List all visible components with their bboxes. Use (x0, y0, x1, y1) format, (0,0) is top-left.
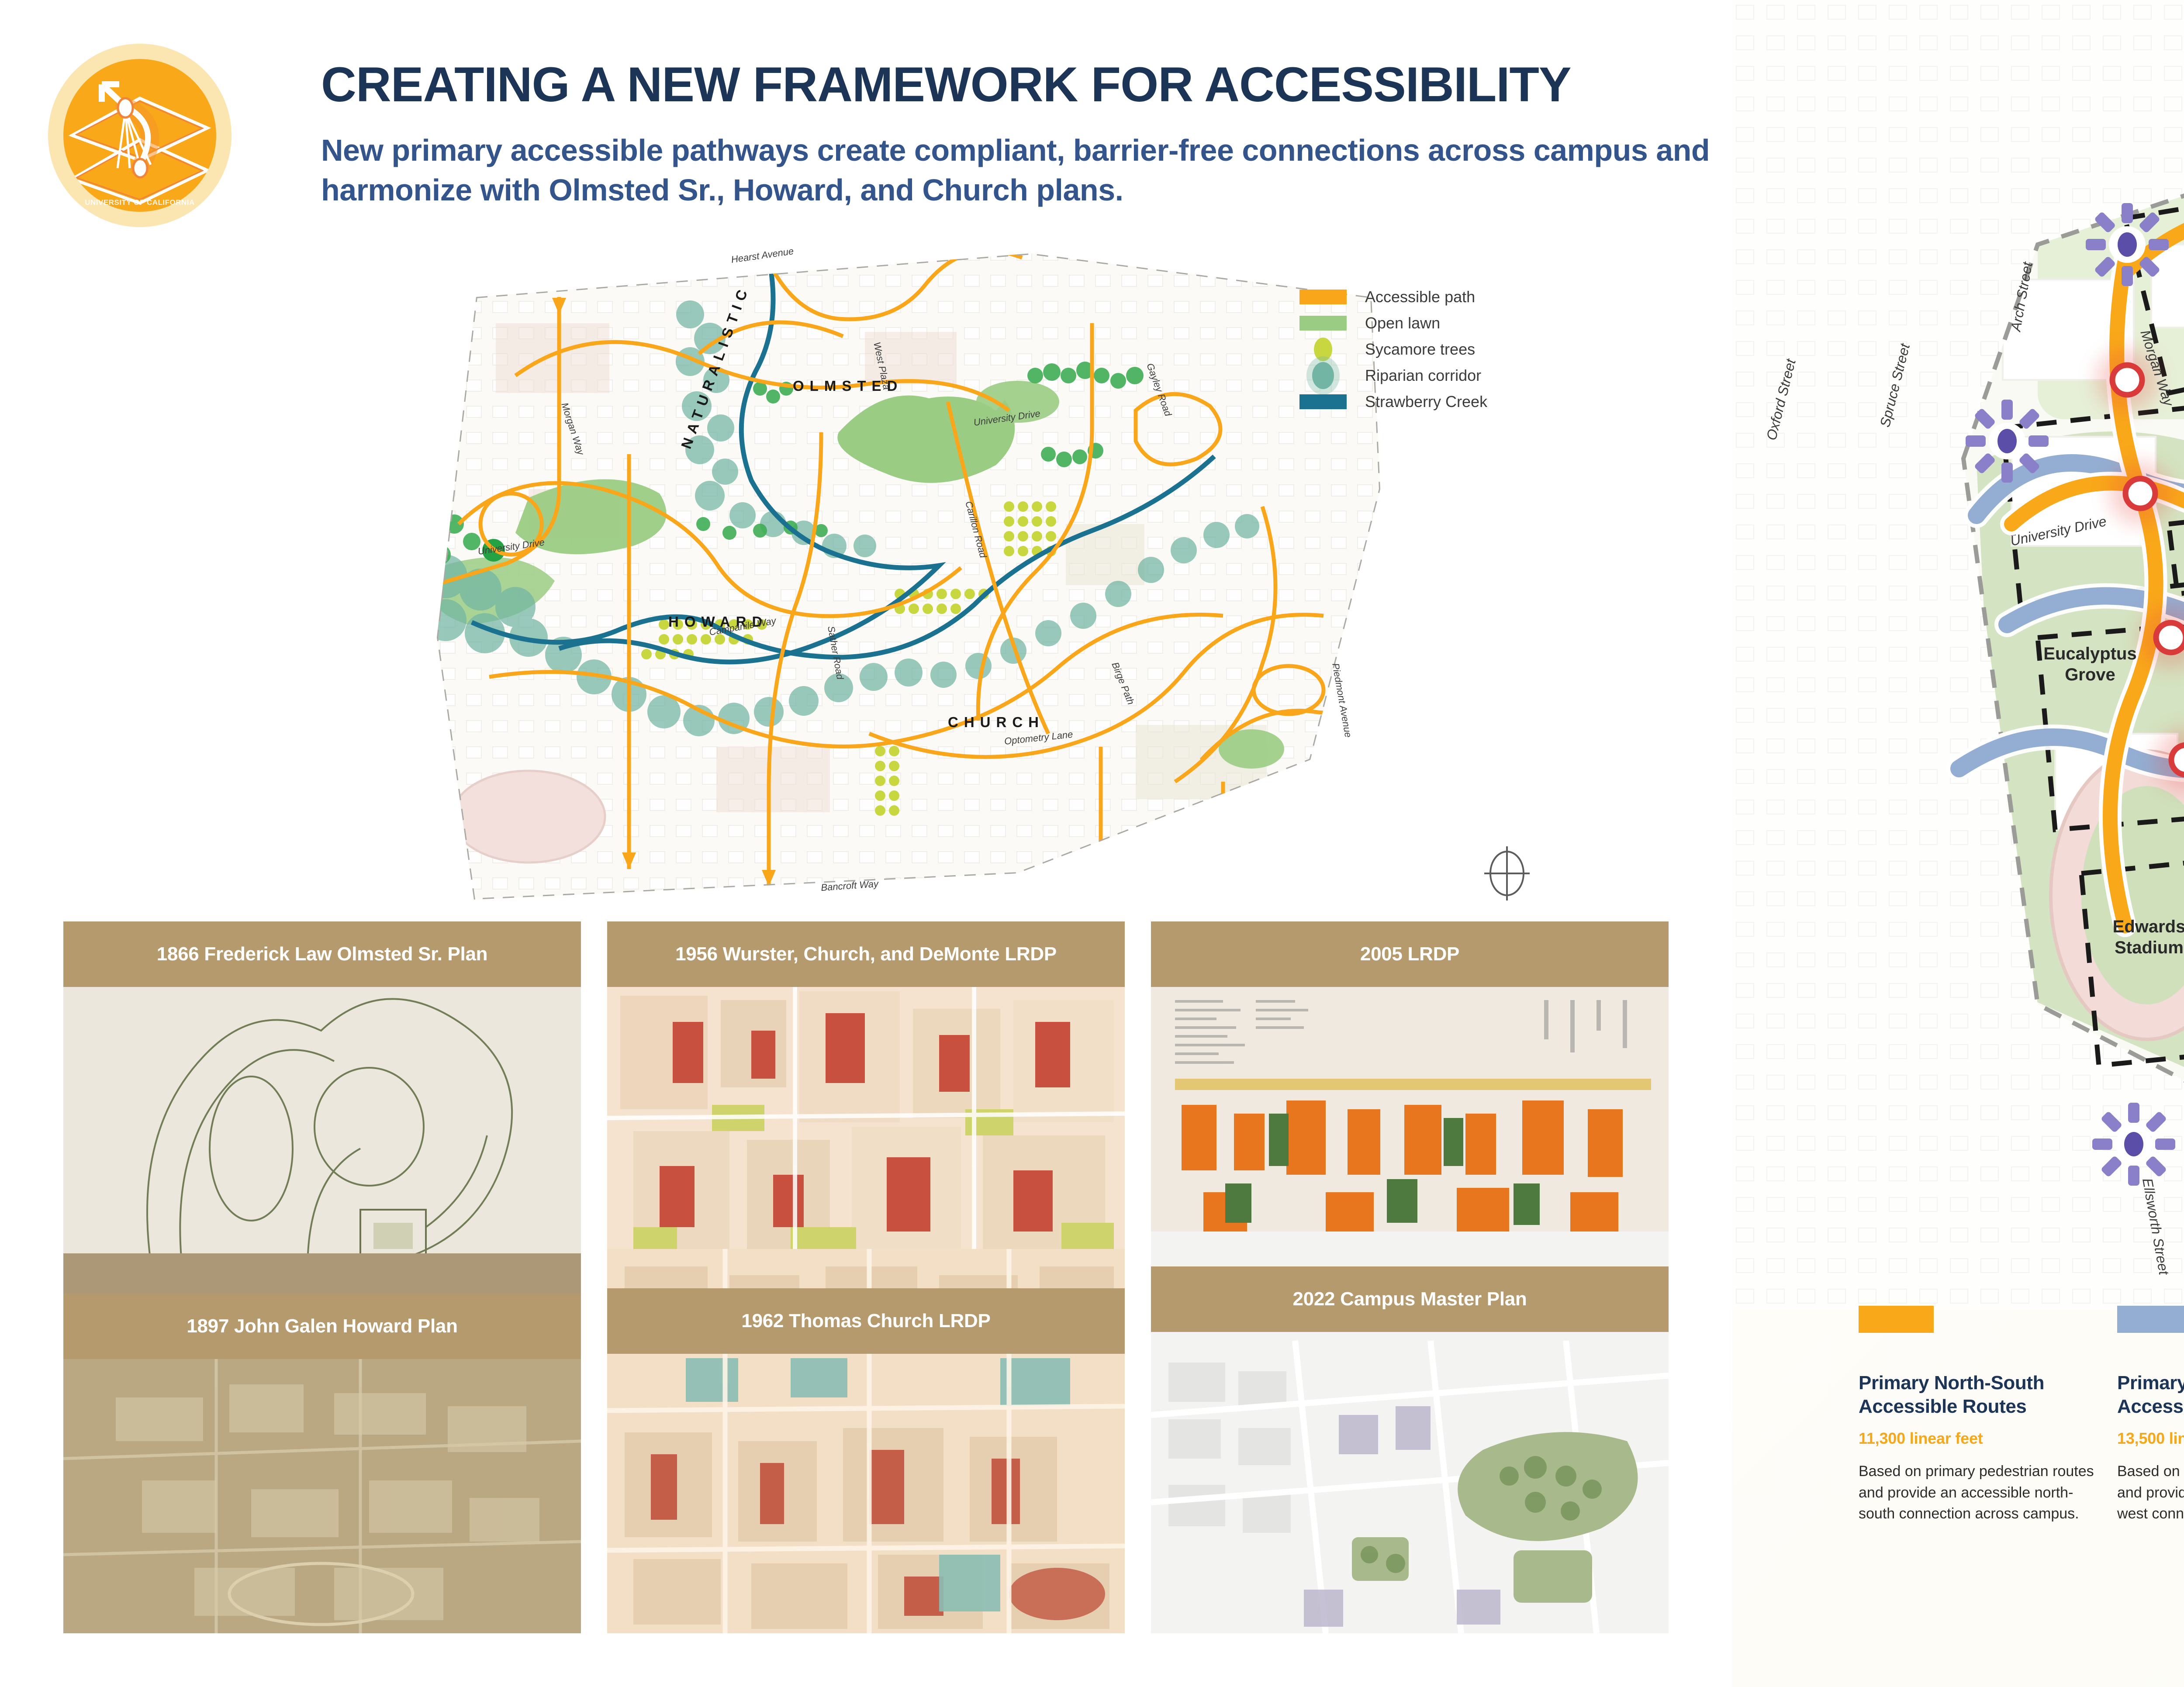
orange-bar-icon (1859, 1306, 2096, 1371)
accessible-path-swatch-icon (1299, 290, 1347, 304)
thumbnail-caption: 1897 John Galen Howard Plan (63, 1294, 581, 1359)
legend-item: Riparian corridor (1299, 362, 1544, 389)
legend-item: Accessible path (1299, 284, 1544, 310)
legend-column: Primary East-West Accessible Routes 13,5… (2117, 1306, 2184, 1524)
poster-board: UNIVERSITY OF CALIFORNIA CREATING A NEW … (0, 0, 2184, 1687)
thumbnail-caption: 1956 Wurster, Church, and DeMonte LRDP (607, 921, 1125, 987)
left-panel: UNIVERSITY OF CALIFORNIA CREATING A NEW … (0, 0, 1732, 1687)
legend-label: Sycamore trees (1365, 340, 1475, 359)
open-lawn-swatch-icon (1299, 316, 1347, 331)
riparian-corridor-dot-icon (1312, 362, 1334, 389)
thumbnail-caption: 2005 LRDP (1151, 921, 1669, 987)
plan-word-church: CHURCH (948, 714, 1044, 730)
street-label: Hearst Avenue (730, 245, 794, 265)
legend-description: Based on primary pedestrian routes and p… (2117, 1461, 2184, 1524)
legend-label: Strawberry Creek (1365, 393, 1487, 411)
left-map-legend: Accessible path Open lawn Sycamore trees… (1299, 284, 1544, 415)
accessible-routes-legend: Primary North-South Accessible Routes 11… (1859, 1306, 2184, 1524)
page-subtitle: New primary accessible pathways create c… (321, 131, 1710, 210)
legend-item: Sycamore trees (1299, 336, 1544, 362)
thumbnail-column: 1866 Frederick Law Olmsted Sr. Plan (63, 921, 581, 1633)
thumbnail-card[interactable]: 1962 Thomas Church LRDP (607, 1249, 1125, 1633)
legend-description: Based on primary pedestrian routes and p… (1859, 1461, 2096, 1524)
thumbnail-caption: 2022 Campus Master Plan (1151, 1266, 1669, 1332)
legend-metric: 13,500 linear feet (2117, 1429, 2184, 1448)
thumbnail-column: 1956 Wurster, Church, and DeMonte LRDP (607, 921, 1125, 1633)
thumbnail-card[interactable]: 2005 LRDP (1151, 921, 1669, 1258)
thumbnail-card[interactable]: 1956 Wurster, Church, and DeMonte LRDP (607, 921, 1125, 1275)
thumbnail-card[interactable]: 1897 John Galen Howard Plan (63, 1253, 581, 1633)
thumbnail-caption: 1866 Frederick Law Olmsted Sr. Plan (63, 921, 581, 987)
headline-block: CREATING A NEW FRAMEWORK FOR ACCESSIBILI… (321, 59, 1710, 210)
thumbnail-card[interactable]: 1866 Frederick Law Olmsted Sr. Plan (63, 921, 581, 1280)
historic-plan-thumbnails: 1866 Frederick Law Olmsted Sr. Plan (63, 921, 1671, 1633)
campus-logo-icon (63, 59, 216, 212)
legend-title: Primary North-South Accessible Routes (1859, 1371, 2096, 1418)
logo-caption: UNIVERSITY OF CALIFORNIA (48, 198, 232, 207)
street-label: Piedmont Avenue (1330, 662, 1354, 738)
legend-item: Strawberry Creek (1299, 389, 1544, 415)
strawberry-creek-swatch-icon (1299, 394, 1347, 409)
legend-label: Accessible path (1365, 288, 1475, 306)
legend-title: Primary East-West Accessible Routes (2117, 1371, 2184, 1418)
legend-label: Riparian corridor (1365, 366, 1481, 385)
legend-label: Open lawn (1365, 314, 1440, 332)
legend-metric: 11,300 linear feet (1859, 1429, 2096, 1448)
thumbnail-card[interactable]: Existing Building Pedestrian Pathway 202… (1151, 1232, 1669, 1633)
blue-bar-icon (2117, 1306, 2184, 1371)
legend-column: Primary North-South Accessible Routes 11… (1859, 1306, 2117, 1524)
sycamore-tree-dot-icon (1314, 338, 1332, 361)
thumbnail-column: 2005 LRDP (1151, 921, 1669, 1633)
logo-badge: UNIVERSITY OF CALIFORNIA (48, 44, 232, 227)
accessible-routes-map: MemorialGlade West OvalGlade EucalyptusG… (1732, 0, 2184, 1310)
page-title: CREATING A NEW FRAMEWORK FOR ACCESSIBILI… (321, 59, 1710, 110)
legend-item: Open lawn (1299, 310, 1544, 336)
thumbnail-caption: 1962 Thomas Church LRDP (607, 1288, 1125, 1354)
north-arrow-icon (1481, 843, 1533, 904)
